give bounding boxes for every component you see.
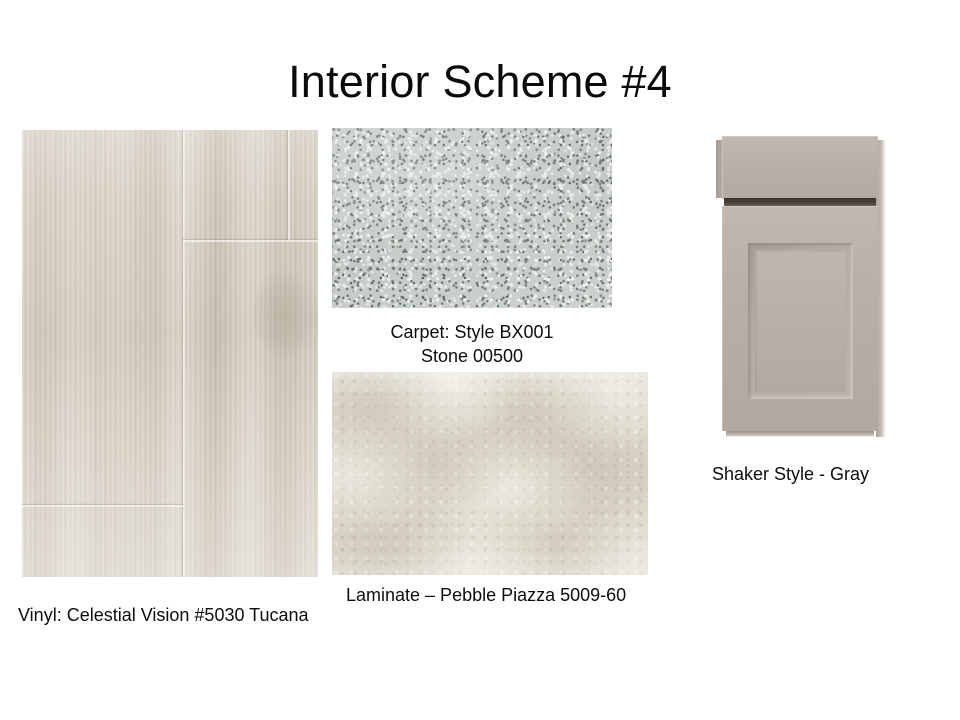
plank-seam-vertical [288,130,290,240]
cabinet-center-panel [755,250,846,392]
carpet-caption-line2: Stone 00500 [332,344,612,368]
carpet-swatch[interactable] [332,128,612,308]
carpet-caption: Carpet: Style BX001 Stone 00500 [332,320,612,368]
cabinet-door-swatch[interactable] [712,130,888,437]
laminate-texture [332,372,648,575]
carpet-caption-line1: Carpet: Style BX001 [390,322,553,342]
laminate-caption: Laminate – Pebble Piazza 5009-60 [346,583,626,607]
vinyl-plank-swatch[interactable] [22,130,318,577]
cabinet-reveal-gap [724,198,876,206]
plank-seam-horizontal [22,505,183,507]
cabinet-door-face [722,206,878,431]
plank-seam-vertical [183,130,185,240]
plank-seam-vertical [183,240,185,577]
cabinet-bottom-shadow [726,431,874,437]
cabinet-drawer-front [722,136,878,199]
vinyl-caption: Vinyl: Celestial Vision #5030 Tucana [18,603,309,627]
presentation-slide: Interior Scheme #4 [0,0,960,720]
plank-seam-horizontal [183,240,318,242]
laminate-swatch[interactable] [332,372,648,575]
carpet-texture [332,128,612,308]
page-title: Interior Scheme #4 [0,56,960,108]
cabinet-door-body [712,130,888,437]
cabinet-panel-bevel [748,243,853,399]
cabinet-caption: Shaker Style - Gray [712,462,869,486]
